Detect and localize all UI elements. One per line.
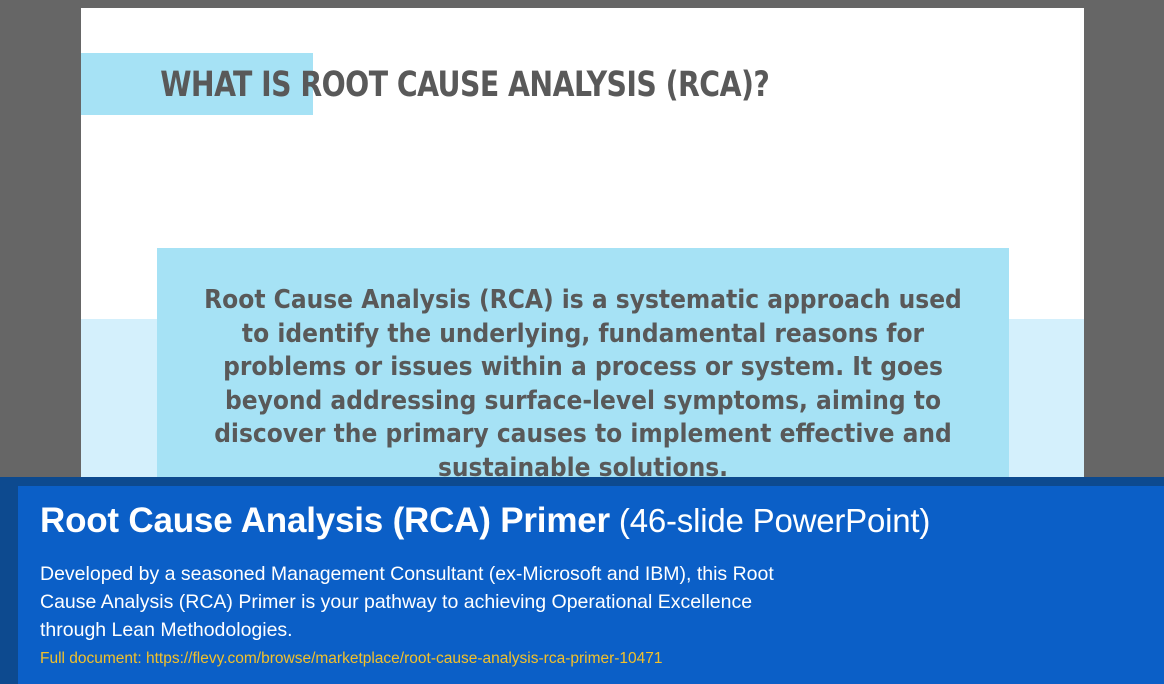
slide-preview: What is Root Cause Analysis (RCA)? Root … bbox=[81, 8, 1084, 477]
banner-title-main: Root Cause Analysis (RCA) Primer bbox=[40, 501, 610, 540]
flevy-banner: Root Cause Analysis (RCA) Primer (46-sli… bbox=[0, 477, 1164, 684]
banner-left-edge bbox=[0, 477, 18, 684]
slide-callout-box: Root Cause Analysis (RCA) is a systemati… bbox=[157, 248, 1009, 477]
banner-document-url[interactable]: Full document: https://flevy.com/browse/… bbox=[40, 650, 663, 668]
banner-top-edge bbox=[0, 477, 1164, 486]
banner-description: Developed by a seasoned Management Consu… bbox=[40, 560, 800, 644]
banner-title: Root Cause Analysis (RCA) Primer (46-sli… bbox=[40, 501, 930, 541]
slide-title: What is Root Cause Analysis (RCA)? bbox=[81, 54, 984, 116]
screenshot-root: What is Root Cause Analysis (RCA)? Root … bbox=[0, 0, 1164, 684]
banner-title-suffix: (46-slide PowerPoint) bbox=[619, 502, 930, 539]
slide-callout-text: Root Cause Analysis (RCA) is a systemati… bbox=[187, 284, 979, 477]
